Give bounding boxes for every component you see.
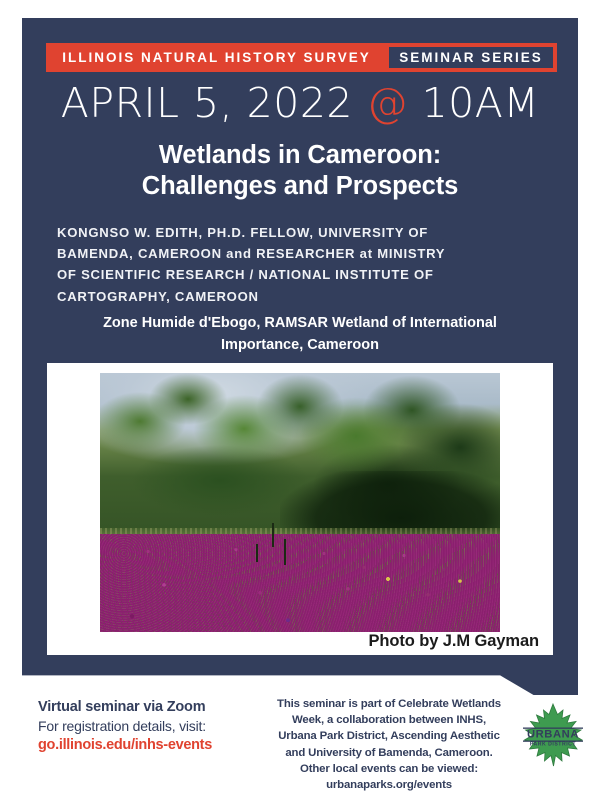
logo-line-2: PARK DISTRICT (530, 741, 577, 747)
speaker-line-2-a: BAMENDA, CAMEROON (57, 246, 226, 261)
photo-frame: Photo by J.M Gayman (47, 363, 553, 655)
at-symbol: @ (367, 79, 409, 127)
footer-collaboration-text: This seminar is part of Celebrate Wetlan… (265, 696, 513, 793)
urbanaparks-url-link[interactable]: urbanaparks.org/events (265, 777, 513, 793)
speaker-line-3: OF SCIENTIFIC RESEARCH / NATIONAL INSTIT… (57, 264, 547, 285)
talk-title-line-1: Wetlands in Cameroon: (60, 140, 540, 171)
urbana-park-district-logo[interactable]: URBANA PARK DISTRICT (518, 700, 588, 770)
speaker-line-1: KONGNSO W. EDITH, PH.D. FELLOW, UNIVERSI… (57, 222, 547, 243)
photo-lily-mat-layer (100, 534, 500, 632)
footer-registration-block: Virtual seminar via Zoom For registratio… (38, 698, 263, 756)
collaboration-line: and University of Bamenda, Cameroon. (265, 745, 513, 761)
site-subtitle-line-1: Zone Humide d'Ebogo, RAMSAR Wetland of I… (55, 313, 545, 335)
event-time-text: 10AM (408, 79, 539, 127)
photo-snag-2 (256, 544, 258, 562)
photo-credit: Photo by J.M Gayman (47, 632, 539, 651)
registration-url-link[interactable]: go.illinois.edu/inhs-events (38, 736, 263, 755)
speaker-affiliation: KONGNSO W. EDITH, PH.D. FELLOW, UNIVERSI… (57, 222, 547, 307)
logo-line-1: URBANA (527, 729, 579, 741)
virtual-seminar-heading: Virtual seminar via Zoom (38, 698, 263, 717)
wetland-site-subtitle: Zone Humide d'Ebogo, RAMSAR Wetland of I… (55, 313, 545, 357)
speaker-conjunction-and: and (226, 246, 252, 261)
page-title: Wetlands in Cameroon: Challenges and Pro… (60, 140, 540, 202)
site-subtitle-line-2: Importance, Cameroon (55, 335, 545, 357)
collaboration-line: Other local events can be viewed: (265, 761, 513, 777)
footer: Virtual seminar via Zoom For registratio… (0, 696, 600, 776)
banner-organization-label: ILLINOIS NATURAL HISTORY SURVEY (46, 43, 387, 72)
seminar-poster: ILLINOIS NATURAL HISTORY SURVEY SEMINAR … (0, 0, 600, 776)
collaboration-line: Urbana Park District, Ascending Aestheti… (265, 728, 513, 744)
series-banner: ILLINOIS NATURAL HISTORY SURVEY SEMINAR … (46, 43, 557, 72)
speaker-preposition-at: at (360, 246, 373, 261)
speaker-line-2-c: MINISTRY (373, 246, 445, 261)
event-datetime: APRIL 5, 2022 @ 10AM (22, 79, 578, 127)
photo-snag-3 (272, 523, 274, 546)
registration-instructions: For registration details, visit: (38, 717, 263, 736)
collaboration-line: Week, a collaboration between INHS, (265, 712, 513, 728)
speaker-line-2: BAMENDA, CAMEROON and RESEARCHER at MINI… (57, 243, 547, 264)
banner-series-label: SEMINAR SERIES (387, 45, 555, 70)
speaker-line-2-b: RESEARCHER (252, 246, 360, 261)
event-date-text: APRIL 5, 2022 (61, 79, 367, 127)
wetland-photo (100, 373, 500, 632)
talk-title-line-2: Challenges and Prospects (60, 171, 540, 202)
collaboration-line: This seminar is part of Celebrate Wetlan… (265, 696, 513, 712)
photo-lily-flowers (100, 534, 500, 632)
speaker-line-4: CARTOGRAPHY, CAMEROON (57, 286, 547, 307)
photo-snag-1 (284, 539, 286, 565)
